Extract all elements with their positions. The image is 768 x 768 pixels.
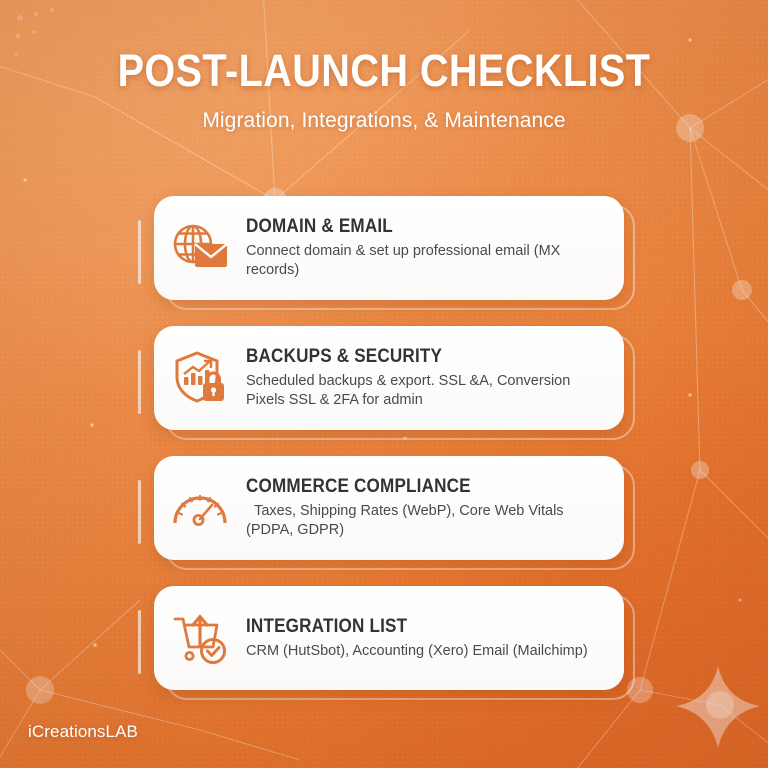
cart-check-icon xyxy=(154,611,246,665)
card-title: BACKUPS & SECURITY xyxy=(246,346,572,367)
card-text-block: DOMAIN & EMAIL Connect domain & set up p… xyxy=(246,216,624,280)
page-title: POST-LAUNCH CHECKLIST xyxy=(46,46,722,96)
sparkle-icon xyxy=(676,666,760,748)
card-surface[interactable]: COMMERCE COMPLIANCE Taxes, Shipping Rate… xyxy=(154,456,624,560)
card-title: COMMERCE COMPLIANCE xyxy=(246,476,572,497)
brand-logo: iCreationsLAB xyxy=(28,722,138,742)
checklist-item-integration-list[interactable]: INTEGRATION LIST CRM (HutSbot), Accounti… xyxy=(135,586,635,700)
card-text-block: COMMERCE COMPLIANCE Taxes, Shipping Rate… xyxy=(246,476,624,540)
card-description: Connect domain & set up professional ema… xyxy=(246,242,608,280)
checklist-card-list: DOMAIN & EMAIL Connect domain & set up p… xyxy=(135,196,635,716)
accent-bar xyxy=(138,610,141,674)
accent-bar xyxy=(138,350,141,414)
poster-header: POST-LAUNCH CHECKLIST Migration, Integra… xyxy=(0,46,768,134)
poster-canvas: POST-LAUNCH CHECKLIST Migration, Integra… xyxy=(0,0,768,768)
checklist-item-backups-security[interactable]: BACKUPS & SECURITY Scheduled backups & e… xyxy=(135,326,635,440)
card-surface[interactable]: BACKUPS & SECURITY Scheduled backups & e… xyxy=(154,326,624,430)
card-text-block: INTEGRATION LIST CRM (HutSbot), Accounti… xyxy=(246,616,624,661)
card-text-block: BACKUPS & SECURITY Scheduled backups & e… xyxy=(246,346,624,410)
card-description: CRM (HutSbot), Accounting (Xero) Email (… xyxy=(246,642,608,661)
card-title: DOMAIN & EMAIL xyxy=(246,216,572,237)
page-subtitle: Migration, Integrations, & Maintenance xyxy=(0,108,768,134)
card-description: Taxes, Shipping Rates (WebP), Core Web V… xyxy=(246,502,608,540)
speedometer-icon xyxy=(154,488,246,528)
accent-bar xyxy=(138,220,141,284)
card-surface[interactable]: INTEGRATION LIST CRM (HutSbot), Accounti… xyxy=(154,586,624,690)
globe-envelope-icon xyxy=(154,222,246,274)
checklist-item-domain-email[interactable]: DOMAIN & EMAIL Connect domain & set up p… xyxy=(135,196,635,310)
checklist-item-commerce-compliance[interactable]: COMMERCE COMPLIANCE Taxes, Shipping Rate… xyxy=(135,456,635,570)
card-title: INTEGRATION LIST xyxy=(246,616,572,637)
card-surface[interactable]: DOMAIN & EMAIL Connect domain & set up p… xyxy=(154,196,624,300)
card-description: Scheduled backups & export. SSL &A, Conv… xyxy=(246,372,608,410)
shield-chart-lock-icon xyxy=(154,350,246,406)
accent-bar xyxy=(138,480,141,544)
